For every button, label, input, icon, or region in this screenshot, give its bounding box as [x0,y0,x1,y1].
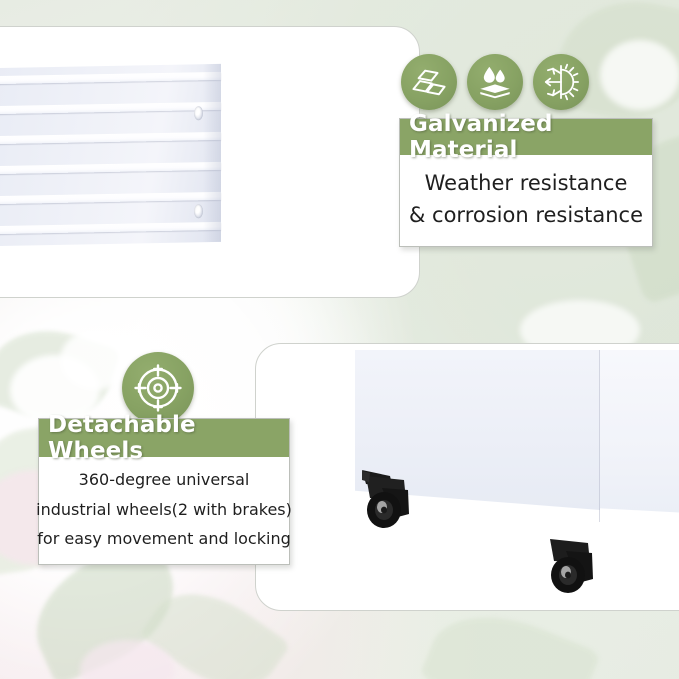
caster-wheel [360,466,420,536]
louver-slat [0,162,221,180]
cabinet-side-face [599,350,679,522]
feature-description-line: 360-degree universal [79,465,250,495]
cabinet-corner-seam [599,350,600,522]
hinge-dot [194,106,203,120]
feature-icon-row [401,54,589,110]
feature-title: Galvanized Material [400,119,652,155]
louver-slat [0,222,221,240]
louver-slat [0,102,221,120]
hinge-dot [194,204,203,218]
feature-description-line: industrial wheels(2 with brakes) [36,495,292,525]
water-repellent-layers-icon [467,54,523,110]
louvered-cabinet-door [0,64,221,252]
feature-description-line: & corrosion resistance [409,200,643,232]
louver-slat [0,72,221,90]
feature-description: 360-degree universal industrial wheels(2… [39,457,289,564]
louver-slat [0,192,221,210]
feature-title: Detachable Wheels [39,419,289,457]
snowflake-sun-icon [533,54,589,110]
louver-slat [0,132,221,150]
door-right-edge [203,64,221,242]
feature-callout-detachable-wheels: Detachable Wheels 360-degree universal i… [38,352,338,565]
feature-description: Weather resistance & corrosion resistanc… [400,155,652,246]
metal-ingots-icon [401,54,457,110]
feature-card: Galvanized Material Weather resistance &… [399,118,653,247]
caster-wheel [544,537,604,607]
feature-callout-galvanized-material: Galvanized Material Weather resistance &… [399,54,679,247]
feature-description-line: Weather resistance [425,168,628,200]
product-panel-louvered-door [0,26,420,298]
feature-card: Detachable Wheels 360-degree universal i… [38,418,290,565]
infographic-canvas: Galvanized Material Weather resistance &… [0,0,679,679]
feature-description-line: for easy movement and locking [37,524,290,554]
